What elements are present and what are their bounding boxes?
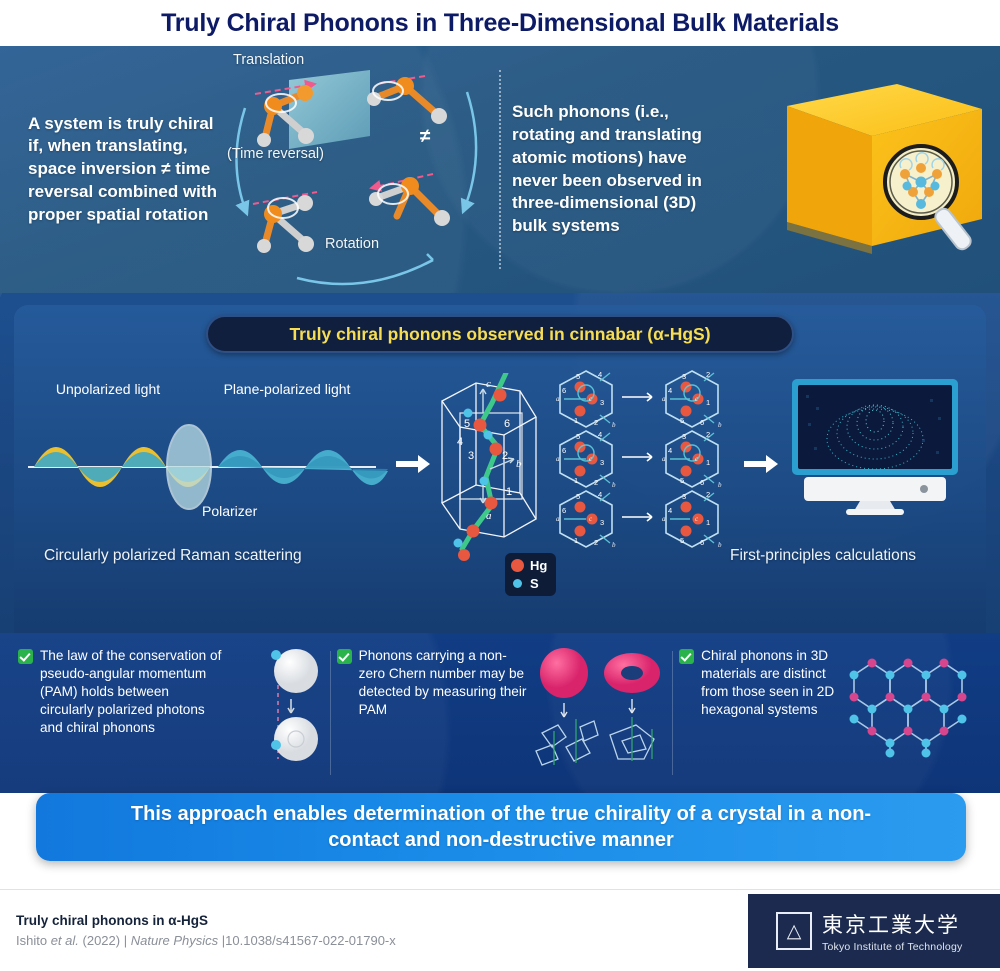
sep-1: | — [124, 933, 127, 948]
svg-text:2: 2 — [594, 418, 598, 427]
molecule-lower-left — [253, 192, 317, 253]
findings-divider-1 — [330, 651, 331, 775]
svg-text:3: 3 — [682, 372, 686, 381]
crystal-site-4: 4 — [457, 436, 463, 448]
tokyo-tech-emblem-icon: △ — [776, 912, 812, 950]
cinnabar-banner: Truly chiral phonons observed in cinnaba… — [206, 315, 794, 353]
svg-text:a: a — [662, 455, 666, 463]
svg-text:5: 5 — [680, 416, 684, 425]
svg-text:1: 1 — [706, 398, 710, 407]
svg-text:3: 3 — [682, 492, 686, 501]
caption-raman-scattering: Circularly polarized Raman scattering — [44, 547, 302, 565]
not-equal-symbol: ≠ — [420, 126, 430, 148]
svg-text:4: 4 — [598, 490, 602, 499]
svg-text:6: 6 — [562, 446, 566, 455]
svg-text:b: b — [718, 421, 722, 429]
svg-text:1: 1 — [574, 476, 578, 485]
logo-japanese: 東京工業大学 — [822, 909, 962, 939]
svg-text:5: 5 — [680, 476, 684, 485]
caption-first-principles: First-principles calculations — [730, 547, 916, 565]
citation-line: Ishito et al. (2022) | Nature Physics |1… — [16, 933, 396, 948]
journal-name: Nature Physics — [131, 933, 218, 948]
label-translation: Translation — [233, 52, 304, 68]
svg-text:1: 1 — [574, 416, 578, 425]
emblem-glyph: △ — [787, 922, 802, 941]
svg-text:a: a — [556, 395, 560, 403]
chirality-molecule-diagram: Translation (Time reversal) Rotation ≠ — [225, 46, 497, 293]
svg-text:6: 6 — [562, 386, 566, 395]
page-title-bar: Truly Chiral Phonons in Three-Dimensiona… — [0, 0, 1000, 46]
crystal-axis-b: b — [516, 458, 522, 470]
svg-text:5: 5 — [680, 536, 684, 545]
svg-text:2: 2 — [706, 490, 710, 499]
svg-text:1: 1 — [574, 536, 578, 545]
chern-number-art — [532, 647, 664, 772]
bulk-cube-magnifier-icon — [777, 64, 992, 276]
sphere-torus-svg — [532, 647, 664, 767]
logo-text: 東京工業大学 Tokyo Institute of Technology — [822, 909, 962, 953]
crystal-site-5: 5 — [464, 418, 470, 430]
svg-text:5: 5 — [576, 432, 580, 441]
lattice-svg — [840, 653, 980, 761]
conclusion-banner: This approach enables determination of t… — [36, 793, 966, 861]
conclusion-text: This approach enables determination of t… — [111, 801, 891, 854]
finding-text-1: The law of the conservation of pseudo-an… — [40, 647, 225, 793]
crystal-site-3: 3 — [468, 450, 474, 462]
molecule-upper-right — [367, 76, 447, 124]
svg-text:1: 1 — [706, 458, 710, 467]
svg-text:a: a — [556, 455, 560, 463]
svg-text:4: 4 — [668, 386, 672, 395]
svg-text:a: a — [556, 515, 560, 523]
finding-item-3: Chiral phonons in 3D materials are disti… — [679, 647, 982, 793]
crystal-site-6: 6 — [504, 418, 510, 430]
cinnabar-crystal-diagram: 5 6 4 3 2 1 c b a — [428, 373, 563, 573]
hexagonal-lattice-art — [840, 653, 980, 766]
crystal-site-2: 2 — [502, 450, 508, 462]
finding-text-2: Phonons carrying a non-zero Chern number… — [359, 647, 529, 793]
label-time-reversal: (Time reversal) — [227, 146, 324, 162]
chirality-definition-text: A system is truly chiral if, when transl… — [28, 113, 233, 227]
legend-item-hg: Hg — [511, 558, 547, 573]
finding-item-1: The law of the conservation of pseudo-an… — [18, 647, 324, 793]
svg-text:4: 4 — [668, 446, 672, 455]
never-observed-text: Such phonons (i.e., rotating and transla… — [512, 101, 712, 238]
svg-text:3: 3 — [600, 458, 604, 467]
atom-legend: Hg S — [505, 553, 556, 596]
svg-text:b: b — [718, 481, 722, 489]
section-observation: Truly chiral phonons observed in cinnaba… — [0, 293, 1000, 633]
paper-title: Truly chiral phonons in α-HgS — [16, 913, 396, 928]
panel-never-observed: Such phonons (i.e., rotating and transla… — [500, 46, 1000, 293]
flow-arrow-1-icon — [396, 453, 432, 475]
svg-text:2: 2 — [594, 478, 598, 487]
label-unpolarized-light: Unpolarized light — [48, 381, 168, 399]
two-spheres-svg — [260, 647, 322, 765]
experiment-flow: Unpolarized light Plane-polarized light … — [0, 367, 1000, 567]
svg-text:b: b — [612, 481, 616, 489]
svg-text:2: 2 — [594, 538, 598, 547]
label-rotation: Rotation — [325, 236, 379, 252]
panel-chirality-definition: A system is truly chiral if, when transl… — [0, 46, 500, 293]
svg-text:1: 1 — [706, 518, 710, 527]
s-color-swatch — [513, 579, 522, 588]
finding-text-3: Chiral phonons in 3D materials are disti… — [701, 647, 853, 793]
finding-item-2: Phonons carrying a non-zero Chern number… — [337, 647, 667, 793]
svg-text:6: 6 — [700, 538, 704, 547]
svg-text:b: b — [612, 541, 616, 549]
label-polarizer: Polarizer — [202, 503, 292, 521]
crystal-axis-a: a — [486, 510, 492, 522]
legend-label-s: S — [530, 576, 539, 591]
footer: Truly chiral phonons in α-HgS Ishito et … — [0, 889, 1000, 971]
molecule-cycle-svg — [225, 46, 497, 293]
hexagon-modes-svg: 546 312 324 156 546 312 324 156 546 312 … — [556, 367, 736, 552]
svg-text:2: 2 — [706, 370, 710, 379]
check-icon-2 — [337, 649, 352, 664]
monitor-svg — [790, 377, 960, 517]
crystal-svg: 5 6 4 3 2 1 c b a — [428, 373, 563, 568]
findings-divider-2 — [672, 651, 673, 775]
legend-item-s: S — [511, 576, 547, 591]
molecule-lower-right — [369, 174, 450, 226]
logo-english: Tokyo Institute of Technology — [822, 941, 962, 953]
section-definition: A system is truly chiral if, when transl… — [0, 46, 1000, 293]
svg-text:b: b — [612, 421, 616, 429]
et-al: et al. — [51, 933, 79, 948]
svg-text:6: 6 — [562, 506, 566, 515]
authors: Ishito — [16, 933, 47, 948]
svg-text:4: 4 — [668, 506, 672, 515]
svg-text:5: 5 — [576, 372, 580, 381]
crystal-axis-c: c — [486, 378, 491, 390]
flow-arrow-2-icon — [744, 453, 780, 475]
legend-label-hg: Hg — [530, 558, 547, 573]
polarized-light-diagram: Unpolarized light Plane-polarized light … — [26, 411, 396, 521]
svg-text:6: 6 — [700, 478, 704, 487]
svg-text:a: a — [662, 395, 666, 403]
year: (2022) — [83, 933, 121, 948]
cube-svg — [777, 64, 992, 276]
check-icon-3 — [679, 649, 694, 664]
citation: Truly chiral phonons in α-HgS Ishito et … — [16, 913, 396, 948]
svg-text:3: 3 — [682, 432, 686, 441]
svg-text:2: 2 — [706, 430, 710, 439]
computer-monitor-icon — [790, 377, 960, 522]
label-plane-polarized-light: Plane-polarized light — [222, 381, 352, 399]
cinnabar-banner-text: Truly chiral phonons observed in cinnaba… — [289, 324, 710, 345]
svg-text:a: a — [662, 515, 666, 523]
svg-text:6: 6 — [700, 418, 704, 427]
svg-text:b: b — [718, 541, 722, 549]
hg-color-swatch — [511, 559, 524, 572]
svg-text:4: 4 — [598, 430, 602, 439]
page-title: Truly Chiral Phonons in Three-Dimensiona… — [161, 9, 839, 38]
svg-text:3: 3 — [600, 518, 604, 527]
doi: 10.1038/s41567-022-01790-x — [225, 933, 396, 948]
phonon-mode-hexagons: 546 312 324 156 546 312 324 156 546 312 … — [556, 367, 736, 557]
tokyo-tech-logo: △ 東京工業大学 Tokyo Institute of Technology — [748, 894, 1000, 968]
section-findings: The law of the conservation of pseudo-an… — [0, 633, 1000, 793]
svg-text:3: 3 — [600, 398, 604, 407]
crystal-site-1: 1 — [506, 486, 512, 498]
svg-text:4: 4 — [598, 370, 602, 379]
pam-conservation-art — [260, 647, 322, 770]
svg-text:5: 5 — [576, 492, 580, 501]
check-icon-1 — [18, 649, 33, 664]
